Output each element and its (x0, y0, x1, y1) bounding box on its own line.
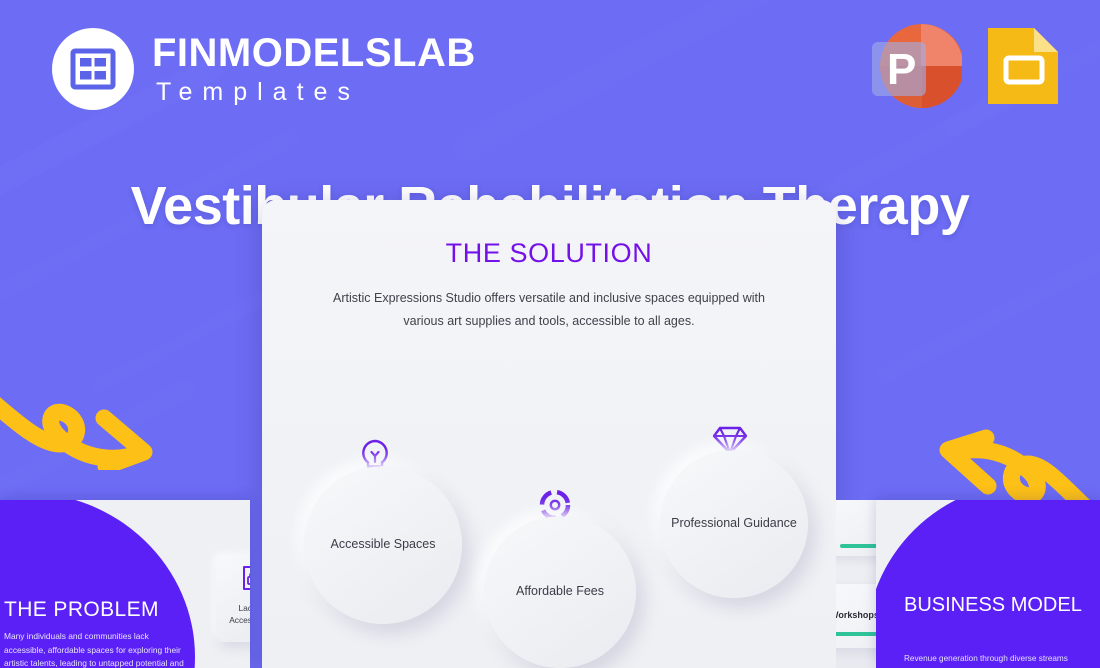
solution-bubble-accessible-spaces[interactable]: Accessible Spaces (304, 466, 462, 624)
slide-preview-solution[interactable]: THE SOLUTION Artistic Expressions Studio… (262, 200, 836, 668)
workshops-label: Workshops (836, 610, 879, 620)
bubble-label: Affordable Fees (516, 583, 604, 601)
solution-bubble-affordable-fees[interactable]: Affordable Fees (484, 516, 636, 668)
problem-feature-tile[interactable]: Lack of Accessibility (216, 556, 250, 642)
problem-description: Many individuals and communities lack ac… (4, 630, 190, 668)
problem-title: THE PROBLEM (4, 598, 159, 622)
solution-bubble-professional-guidance[interactable]: Professional Guidance (660, 450, 808, 598)
brand-logo[interactable]: FINMODELSLAB Templates (52, 28, 476, 110)
slide-preview-problem[interactable]: Lack of Accessibility THE PROBLEM Many i… (0, 500, 250, 668)
slide-preview-strip: THE SOLUTION Artistic Expressions Studio… (0, 500, 1100, 668)
grid-squares-icon (70, 46, 116, 92)
google-slides-icon[interactable] (984, 24, 1062, 108)
document-lock-icon (241, 565, 250, 591)
svg-text:P: P (887, 45, 916, 94)
bubble-label: Professional Guidance (671, 515, 797, 533)
format-icons: P (862, 18, 1062, 114)
business-description: Revenue generation through diverse strea… (904, 652, 1080, 668)
squiggly-arrow-right-icon (0, 352, 172, 475)
solution-description: Artistic Expressions Studio offers versa… (319, 287, 779, 333)
powerpoint-icon[interactable]: P (862, 18, 962, 114)
slide-preview-business-model[interactable]: BUSINESS MODEL Revenue generation throug… (876, 500, 1100, 668)
brand-wordmark: FINMODELSLAB Templates (152, 33, 476, 105)
business-title: BUSINESS MODEL (904, 592, 1082, 619)
logo-badge (52, 28, 134, 110)
brush-stroke-decoration (448, 0, 833, 167)
problem-tile-label: Lack of Accessibility (216, 603, 250, 626)
business-accent-blob (876, 500, 1100, 668)
brand-title: FINMODELSLAB (152, 33, 476, 73)
brand-subtitle: Templates (152, 80, 476, 105)
solution-title: THE SOLUTION (262, 238, 836, 269)
bubble-label: Accessible Spaces (331, 536, 436, 554)
